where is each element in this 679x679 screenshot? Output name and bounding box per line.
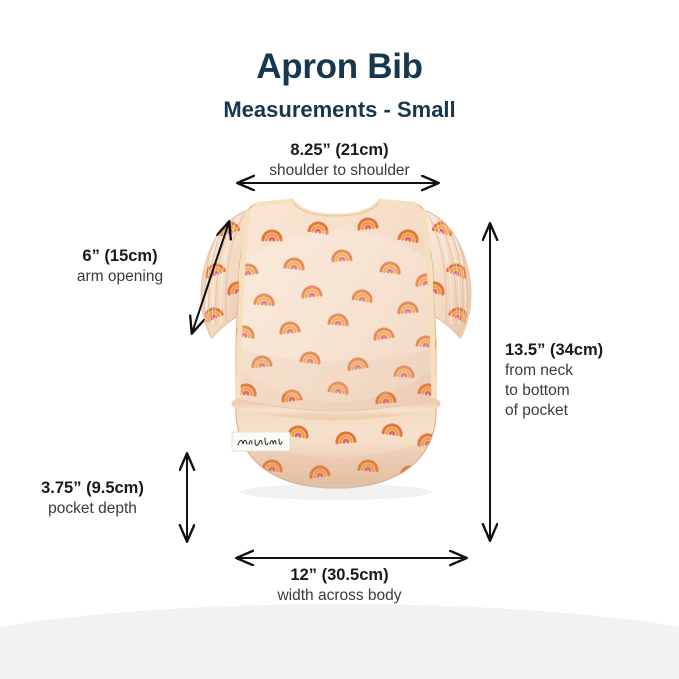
brand-label [232, 432, 290, 451]
shoulder-value: 8.25” (21cm) [0, 140, 679, 161]
measurement-diagram: Apron Bib Measurements - Small [0, 0, 679, 679]
shoulder-description: shoulder to shoulder [0, 161, 679, 181]
neck-to-pocket-line1: from neck [505, 361, 675, 381]
pocket-depth-description: pocket depth [10, 499, 175, 519]
label-shoulder-to-shoulder: 8.25” (21cm) shoulder to shoulder [0, 140, 679, 181]
label-pocket-depth: 3.75” (9.5cm) pocket depth [10, 478, 175, 519]
page-subtitle: Measurements - Small [0, 97, 679, 123]
front-pocket [232, 399, 437, 496]
neck-to-pocket-line2: to bottom [505, 381, 675, 401]
width-description: width across body [0, 586, 679, 606]
arm-opening-value: 6” (15cm) [30, 246, 210, 267]
apron-bib-illustration [186, 196, 486, 544]
label-width-across-body: 12” (30.5cm) width across body [0, 565, 679, 606]
pocket-depth-value: 3.75” (9.5cm) [10, 478, 175, 499]
label-neck-to-pocket: 13.5” (34cm) from neck to bottom of pock… [505, 340, 675, 421]
neck-to-pocket-value: 13.5” (34cm) [505, 340, 675, 361]
neck-to-pocket-line3: of pocket [505, 401, 675, 421]
floor-shadow [0, 604, 679, 679]
width-value: 12” (30.5cm) [0, 565, 679, 586]
label-arm-opening: 6” (15cm) arm opening [30, 246, 210, 287]
arm-opening-description: arm opening [30, 267, 210, 287]
neckline-binding [292, 201, 380, 216]
page-title: Apron Bib [0, 47, 679, 87]
